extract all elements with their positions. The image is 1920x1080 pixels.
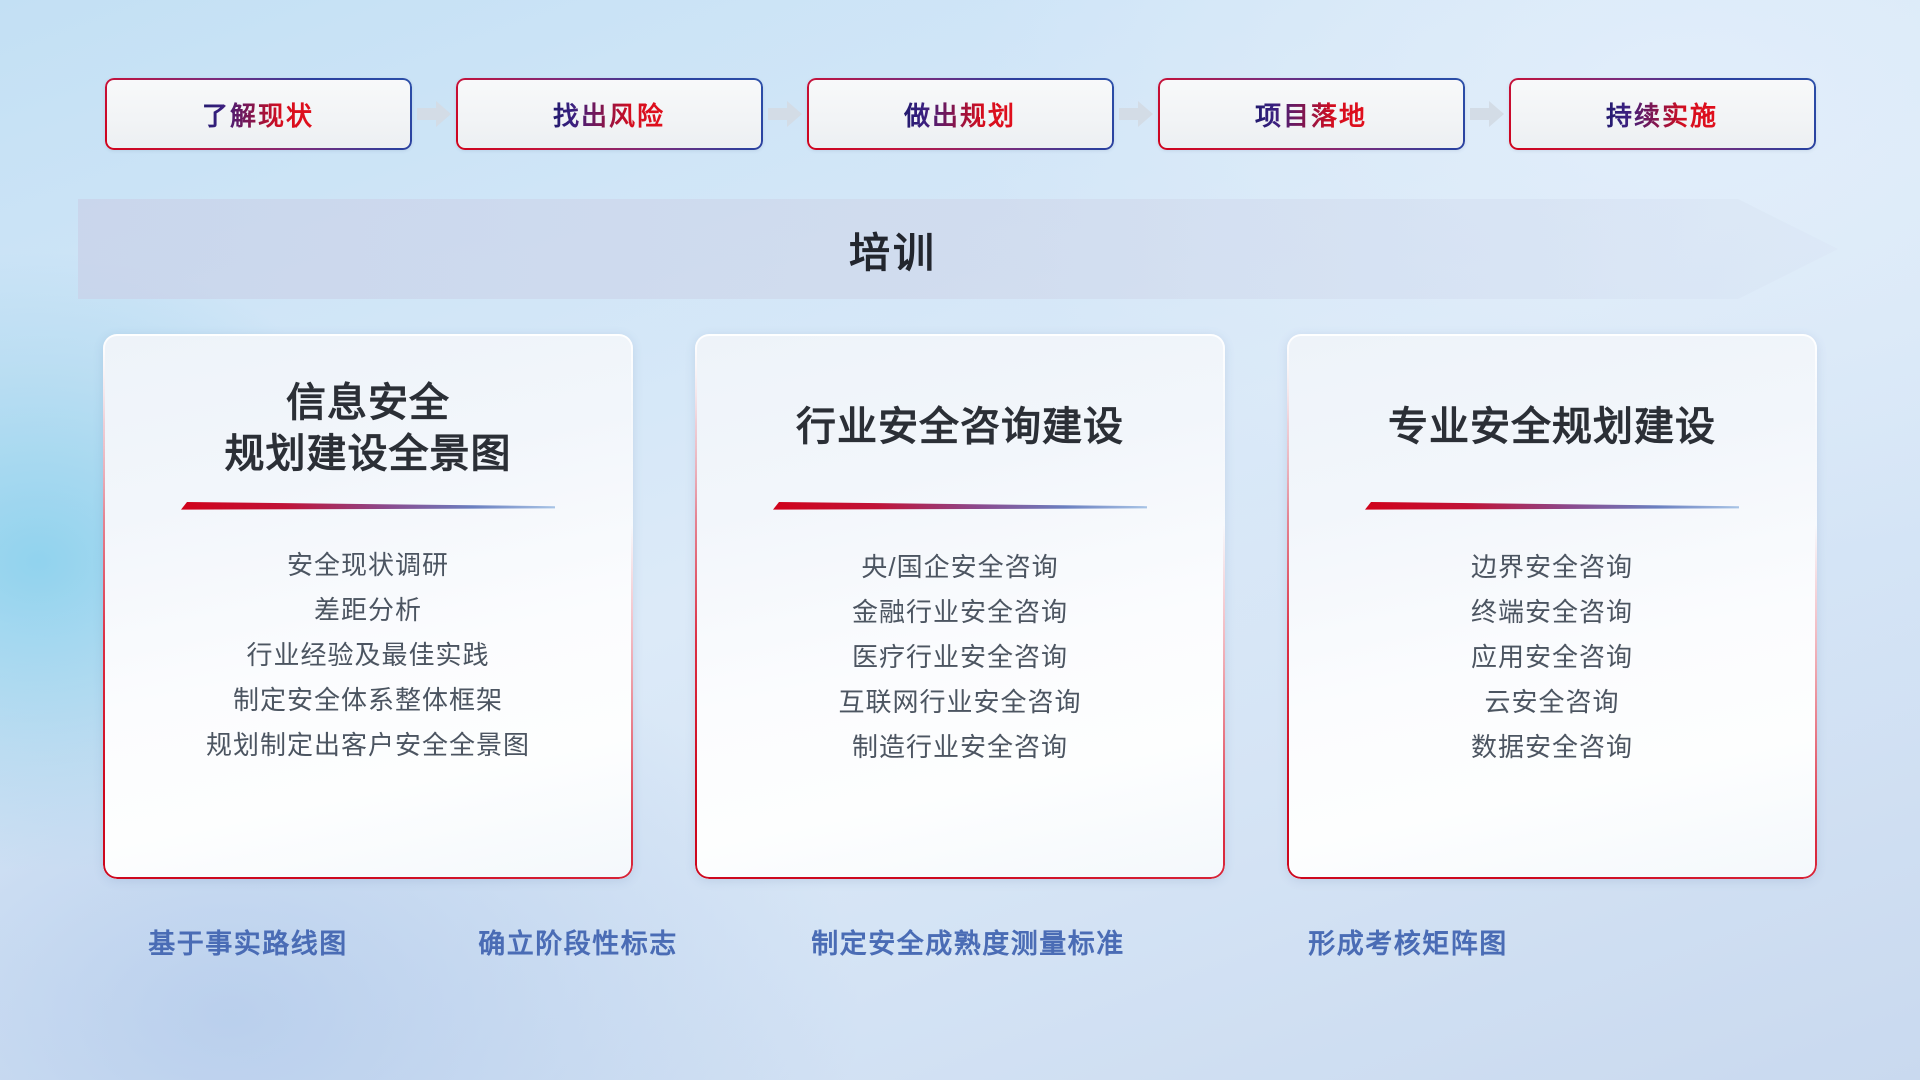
red-to-blue-taper-divider-icon — [181, 498, 555, 512]
footer-tag: 形成考核矩阵图 — [1308, 922, 1508, 961]
card-title: 行业安全咨询建设 — [695, 334, 1225, 484]
step-label: 找出风险 — [553, 96, 665, 133]
list-item: 医疗行业安全咨询 — [852, 644, 1068, 670]
card-title-line: 规划建设全景图 — [103, 429, 633, 480]
list-item: 数据安全咨询 — [1471, 734, 1633, 760]
list-item: 边界安全咨询 — [1471, 554, 1633, 580]
list-item: 规划制定出客户安全全景图 — [206, 732, 530, 758]
step-box-5[interactable]: 持续实施 — [1509, 78, 1816, 150]
card-title-line: 行业安全咨询建设 — [695, 402, 1225, 453]
card-item-list: 边界安全咨询 终端安全咨询 应用安全咨询 云安全咨询 数据安全咨询 — [1287, 554, 1817, 760]
step-label: 持续实施 — [1606, 96, 1718, 133]
step-box-3[interactable]: 做出规划 — [807, 78, 1114, 150]
list-item: 行业经验及最佳实践 — [246, 642, 489, 668]
cards-row: 信息安全 规划建设全景图 安全现状调研 差距分析 行业经 — [0, 334, 1920, 879]
training-banner: 培训 — [78, 199, 1838, 299]
step-label: 了解现状 — [202, 96, 314, 133]
step-arrow-icon-2 — [763, 78, 807, 150]
step-arrow-icon-1 — [412, 78, 456, 150]
red-to-blue-taper-divider-icon — [1365, 498, 1739, 512]
list-item: 差距分析 — [314, 597, 422, 623]
list-item: 制造行业安全咨询 — [852, 734, 1068, 760]
card-item-list: 安全现状调研 差距分析 行业经验及最佳实践 制定安全体系整体框架 规划制定出客户… — [103, 552, 633, 758]
card-title: 信息安全 规划建设全景图 — [103, 334, 633, 484]
list-item: 云安全咨询 — [1484, 689, 1619, 715]
list-item: 安全现状调研 — [287, 552, 449, 578]
card-information-security-panorama[interactable]: 信息安全 规划建设全景图 安全现状调研 差距分析 行业经 — [103, 334, 633, 879]
footer-tag: 基于事实路线图 — [148, 922, 348, 961]
list-item: 制定安全体系整体框架 — [233, 687, 503, 713]
list-item: 互联网行业安全咨询 — [838, 689, 1081, 715]
card-title-line: 专业安全规划建设 — [1287, 402, 1817, 453]
step-label: 项目落地 — [1255, 96, 1367, 133]
step-box-2[interactable]: 找出风险 — [456, 78, 763, 150]
list-item: 金融行业安全咨询 — [852, 599, 1068, 625]
step-arrow-icon-3 — [1114, 78, 1158, 150]
card-industry-security-consulting[interactable]: 行业安全咨询建设 央/国企安全咨询 金融行业安全咨询 医疗行业安全咨 — [695, 334, 1225, 879]
card-professional-security-planning[interactable]: 专业安全规划建设 边界安全咨询 终端安全咨询 应用安全咨询 — [1287, 334, 1817, 879]
card-item-list: 央/国企安全咨询 金融行业安全咨询 医疗行业安全咨询 互联网行业安全咨询 制造行… — [695, 554, 1225, 760]
red-to-blue-taper-divider-icon — [773, 498, 1147, 512]
step-arrow-icon-4 — [1465, 78, 1509, 150]
card-title-line: 信息安全 — [103, 378, 633, 429]
step-box-4[interactable]: 项目落地 — [1158, 78, 1465, 150]
card-title: 专业安全规划建设 — [1287, 334, 1817, 484]
footer-tag: 确立阶段性标志 — [478, 922, 678, 961]
process-step-row: 了解现状 找出风险 做出规划 项目落地 持续实施 — [0, 78, 1920, 150]
step-label: 做出规划 — [904, 96, 1016, 133]
footer-tag-row: 基于事实路线图 确立阶段性标志 制定安全成熟度测量标准 形成考核矩阵图 — [0, 922, 1920, 964]
list-item: 央/国企安全咨询 — [861, 554, 1058, 580]
banner-label: 培训 — [78, 199, 1708, 299]
step-box-1[interactable]: 了解现状 — [105, 78, 412, 150]
footer-tag: 制定安全成熟度测量标准 — [811, 922, 1125, 961]
list-item: 终端安全咨询 — [1471, 599, 1633, 625]
list-item: 应用安全咨询 — [1471, 644, 1633, 670]
